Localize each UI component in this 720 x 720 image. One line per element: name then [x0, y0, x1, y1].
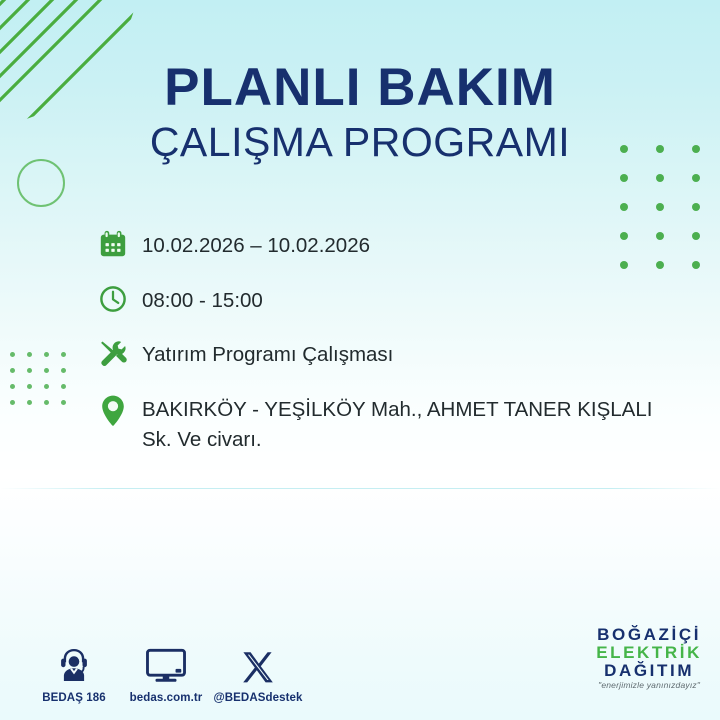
contact-phone-label: BEDAŞ 186 — [28, 692, 120, 704]
detail-row-work-type: Yatırım Programı Çalışması — [98, 337, 658, 370]
x-twitter-icon — [212, 645, 304, 685]
planned-maintenance-poster: PLANLI BAKIM ÇALIŞMA PROGRAMI — [0, 0, 720, 720]
brand-tagline: "enerjimizle yanınızdayız" — [596, 681, 702, 690]
title-subtitle: ÇALIŞMA PROGRAMI — [0, 119, 720, 166]
calendar-icon — [98, 228, 142, 259]
dot-grid-left-decoration — [10, 352, 78, 416]
contact-x-label: @BEDASdestek — [212, 692, 304, 704]
footer: BEDAŞ 186 bedas.com.tr — [0, 628, 720, 704]
monitor-icon — [120, 645, 212, 685]
outage-details: 10.02.2026 – 10.02.2026 08:00 - 15:00 — [98, 228, 658, 455]
section-divider — [0, 488, 720, 489]
contact-links: BEDAŞ 186 bedas.com.tr — [28, 645, 304, 704]
bogazici-elektrik-dagitim-logo: BOĞAZİÇİ ELEKTRİK DAĞITIM "enerjimizle y… — [596, 626, 702, 690]
contact-website[interactable]: bedas.com.tr — [120, 645, 212, 704]
headset-support-icon — [28, 645, 120, 685]
page-title: PLANLI BAKIM ÇALIŞMA PROGRAMI — [0, 60, 720, 166]
brand-line-2: ELEKTRİK — [596, 644, 702, 662]
detail-row-date: 10.02.2026 – 10.02.2026 — [98, 228, 658, 261]
work-type: Yatırım Programı Çalışması — [142, 337, 393, 370]
contact-phone[interactable]: BEDAŞ 186 — [28, 645, 120, 704]
detail-row-time: 08:00 - 15:00 — [98, 283, 658, 316]
brand-line-1: BOĞAZİÇİ — [596, 626, 702, 644]
contact-website-label: bedas.com.tr — [120, 692, 212, 704]
time-range: 08:00 - 15:00 — [142, 283, 263, 316]
address: BAKIRKÖY - YEŞİLKÖY Mah., AHMET TANER KI… — [142, 392, 658, 454]
date-range: 10.02.2026 – 10.02.2026 — [142, 228, 370, 261]
clock-icon — [98, 283, 142, 314]
contact-x-account[interactable]: @BEDASdestek — [212, 645, 304, 704]
detail-row-address: BAKIRKÖY - YEŞİLKÖY Mah., AHMET TANER KI… — [98, 392, 658, 454]
tools-icon — [98, 337, 142, 369]
brand-line-3: DAĞITIM — [596, 662, 702, 680]
location-pin-icon — [98, 392, 142, 428]
title-main: PLANLI BAKIM — [0, 60, 720, 115]
